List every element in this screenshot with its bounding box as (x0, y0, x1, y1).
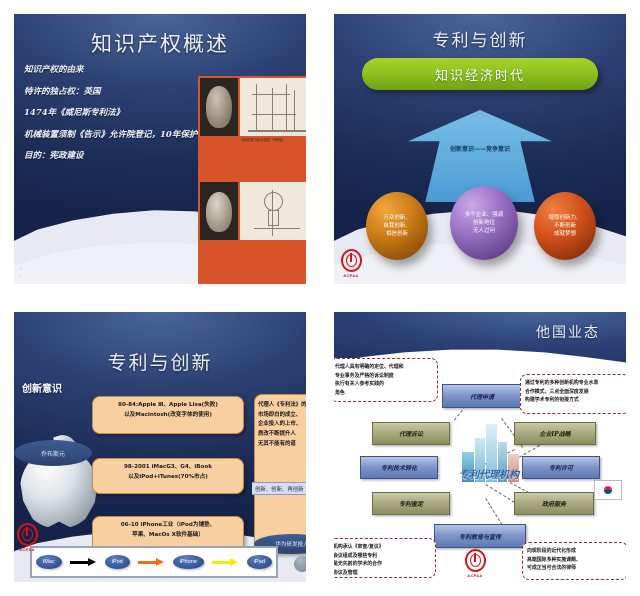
flag-circle (604, 486, 612, 494)
footer-mark-1: · (20, 266, 22, 272)
chain-item-iphone: iPhone (173, 555, 204, 569)
image-caption-text: 瓦特的蒸汽机示意图（专利图） (241, 139, 286, 143)
acpaa-ring-icon (465, 549, 486, 572)
chain-extra-chip (294, 556, 306, 572)
right-panel-text: 代理人《专利法》的 市场即白的成立、 企业投入的上市、 质改不断提升人 无其不能… (254, 394, 306, 554)
sphere-1: 万众创新、 自我创新、 相信创新 (366, 192, 428, 260)
acpaa-logo: ACPAA (16, 523, 38, 552)
node-zhuanlijishuzhuanhua[interactable]: 专利技术转化 (360, 456, 438, 479)
korea-flag-icon (594, 480, 622, 500)
slide-2[interactable]: 专利与创新 知识经济时代 创新意识——竞争意识 万众创新、 自我创新、 相信创新… (334, 14, 626, 284)
node-qiyeipzhanlue[interactable]: 企业IP战略 (514, 422, 596, 445)
acpaa-logo: ACPAA (464, 549, 486, 578)
portrait-edison (200, 182, 238, 240)
milestone-box-1: 80-84:Apple Ⅲ、Apple Lisa(失败) 以及Macintosh… (92, 396, 244, 434)
acpaa-label: ACPAA (340, 273, 362, 278)
bullet-line: 知识产权的由来 (24, 66, 254, 75)
chain-arrow-1 (70, 558, 96, 566)
slide-cell-4[interactable]: 他国业态 专利代理机构 代理申请 代理诉讼 企业IP战略 (320, 298, 640, 596)
slide-3-subtitle: 创新意识 (22, 380, 62, 395)
footer-mark-2: · (20, 274, 22, 280)
slide-1[interactable]: 知识产权概述 知识产权的由来 特许的独占权：英国 1474年《威尼斯专利法》 机… (14, 14, 306, 284)
chain-item-ipod: iPod (105, 555, 130, 569)
arrow-label: 创新意识——竞争意识 (408, 144, 552, 153)
node-zhuanlixuke[interactable]: 专利许可 (522, 456, 600, 479)
green-banner: 知识经济时代 (362, 58, 598, 90)
callout-top-right: 通过专利的多种创新机构专业水准 合作模式，三点全面深度发展 构建学术专利的衔接方… (520, 374, 626, 414)
acpaa-ring-icon (341, 249, 362, 272)
sphere-3: 增厚创新力、 不断创新 成就梦想 (534, 192, 596, 260)
patent-drawing-bulb (240, 182, 306, 240)
acpaa-label: ACPAA (464, 573, 486, 578)
node-zhuanlijianding[interactable]: 专利鉴定 (372, 492, 450, 515)
slide-cell-1[interactable]: 知识产权概述 知识产权的由来 特许的独占权：英国 1474年《威尼斯专利法》 机… (0, 0, 320, 298)
chain-arrow-2 (138, 558, 164, 566)
slide-thumbnail-grid: 知识产权概述 知识产权的由来 特许的独占权：英国 1474年《威尼斯专利法》 机… (0, 0, 640, 596)
slide-cell-2[interactable]: 专利与创新 知识经济时代 创新意识——竞争意识 万众创新、 自我创新、 相信创新… (320, 0, 640, 298)
node-zhuanlijiaoyu[interactable]: 专利教育与宣传 (434, 524, 526, 548)
slide-cell-3[interactable]: 专利与创新 创新意识 乔布斯元 80-84:Apple Ⅲ、Apple Lisa… (0, 298, 320, 596)
slide-2-title: 专利与创新 (334, 26, 626, 51)
sphere-3-label: 增厚创新力、 不断创新 成就梦想 (548, 214, 581, 239)
sphere-1-label: 万众创新、 自我创新、 相信创新 (383, 214, 411, 239)
callout-bottom-left: 机构承认《审查/复议》 会议组成及哪些专利 是无先前的学术的合作 协议及管理 (334, 538, 436, 578)
sphere-2-label: 多个企业、强调 创新地位 无人过问 (465, 211, 504, 236)
slide-4-title: 他国业态 (536, 322, 600, 342)
left-ellipse: 乔布斯元 (14, 440, 92, 466)
callout-bottom-right: 向现阶段的近代化形成 高端国际多种实施课题、 可成正当可合法的律师 (522, 542, 626, 580)
green-banner-label: 知识经济时代 (435, 65, 525, 84)
connector (485, 484, 514, 503)
callout-top-left: 代理人具有明确的定位、代理和 专业事务及严格的诉讼制度 执行有关人参考实践的 角… (334, 358, 438, 402)
chain-arrow-3 (212, 558, 238, 566)
acpaa-logo: ACPAA (340, 249, 362, 278)
slide-3-title: 专利与创新 (14, 348, 306, 375)
acpaa-ring-icon (17, 523, 38, 546)
chain-item-imac: iMac (36, 555, 62, 569)
node-dailishenqing[interactable]: 代理申请 (442, 384, 522, 408)
right-strip-text: 创新、创新、再创新 (252, 482, 306, 495)
portrait-watt (200, 78, 238, 136)
slide-1-title: 知识产权概述 (14, 28, 306, 58)
image-caption-cell (200, 138, 238, 180)
slide-3[interactable]: 专利与创新 创新意识 乔布斯元 80-84:Apple Ⅲ、Apple Lisa… (14, 312, 306, 582)
slide-1-image-collage: 瓦特的蒸汽机示意图（专利图） (198, 76, 306, 284)
slide-4[interactable]: 他国业态 专利代理机构 代理申请 代理诉讼 企业IP战略 (334, 312, 626, 582)
sphere-2: 多个企业、强调 创新地位 无人过问 (450, 186, 518, 260)
node-zhengfufuwu[interactable]: 政府服务 (514, 492, 594, 515)
node-dailisusong[interactable]: 代理诉讼 (372, 422, 450, 445)
image-caption: 瓦特的蒸汽机示意图（专利图） (240, 138, 306, 180)
chain-item-ipad: iPad (247, 555, 272, 569)
acpaa-label: ACPAA (16, 547, 38, 552)
product-chain: iMac iPod iPhone iPad (30, 546, 278, 578)
patent-drawing-engine (240, 78, 306, 136)
milestone-box-2: 98-2001 iMacG3、G4、iBook 以及iPod+iTunes(70… (92, 458, 244, 494)
